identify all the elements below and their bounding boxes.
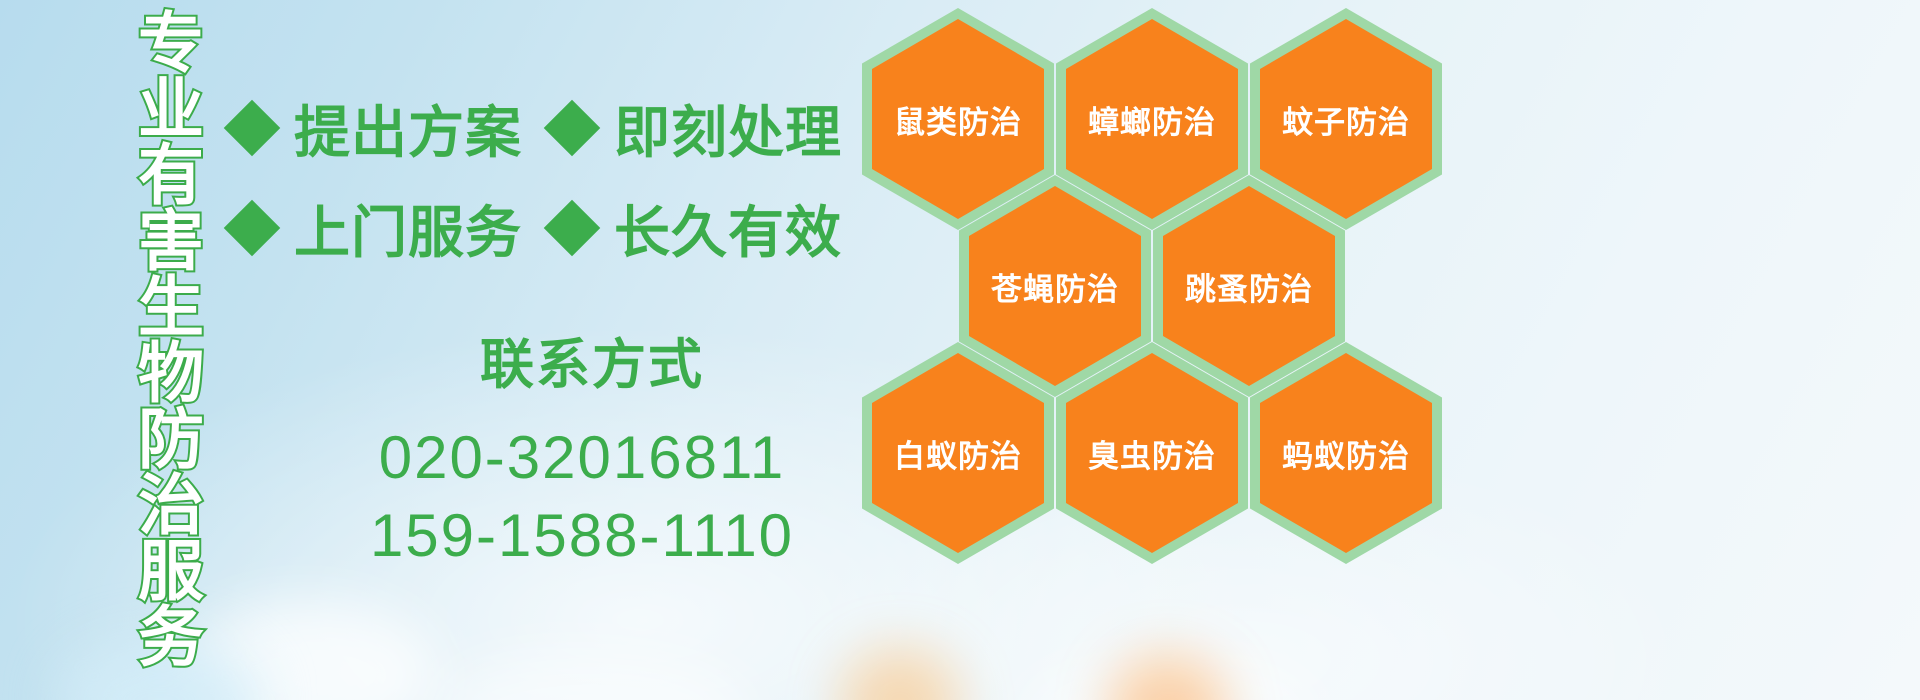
feature-list: 提出方案 即刻处理 上门服务 长久有效 [232,78,872,278]
contact-phone-mobile[interactable]: 159-1588-1110 [312,497,852,575]
diamond-icon [544,200,601,257]
feature-item: 长久有效 [552,188,842,269]
diamond-icon [224,200,281,257]
contact-phone-landline[interactable]: 020-32016811 [312,419,852,497]
diamond-icon [224,100,281,157]
hexagon-label: 蚂蚁防治 [1250,342,1442,564]
contact-title: 联系方式 [332,320,852,399]
vertical-slogan: 专业有害生物防治服务 [108,8,200,568]
background-orange-blob [1108,655,1228,700]
background-orange-blob [840,648,960,700]
feature-label: 即刻处理 [614,88,842,169]
feature-item: 上门服务 [232,188,522,269]
service-hexagon-ant[interactable]: 蚂蚁防治 [1250,342,1442,564]
pest-control-banner: 专业有害生物防治服务 提出方案 即刻处理 上门服务 长久有效 联系方式 [0,0,1920,700]
service-hexagon-bedbug[interactable]: 臭虫防治 [1056,342,1248,564]
background-light-blob [430,650,750,700]
background-light-blob [1020,655,1320,700]
feature-item: 即刻处理 [552,88,842,169]
feature-label: 提出方案 [294,88,522,169]
contact-block: 联系方式 020-32016811 159-1588-1110 [232,320,852,575]
feature-row: 上门服务 长久有效 [232,178,872,278]
diamond-icon [544,100,601,157]
feature-row: 提出方案 即刻处理 [232,78,872,178]
hexagon-label: 白蚁防治 [862,342,1054,564]
service-hexagon-grid: 鼠类防治 蟑螂防治 蚊子防治 苍蝇防治 跳蚤防治 白蚁防治 [862,2,1442,540]
background-light-blob [180,600,440,700]
service-hexagon-termite[interactable]: 白蚁防治 [862,342,1054,564]
feature-item: 提出方案 [232,88,522,169]
hexagon-label: 臭虫防治 [1056,342,1248,564]
feature-label: 长久有效 [614,188,842,269]
feature-label: 上门服务 [294,188,522,269]
